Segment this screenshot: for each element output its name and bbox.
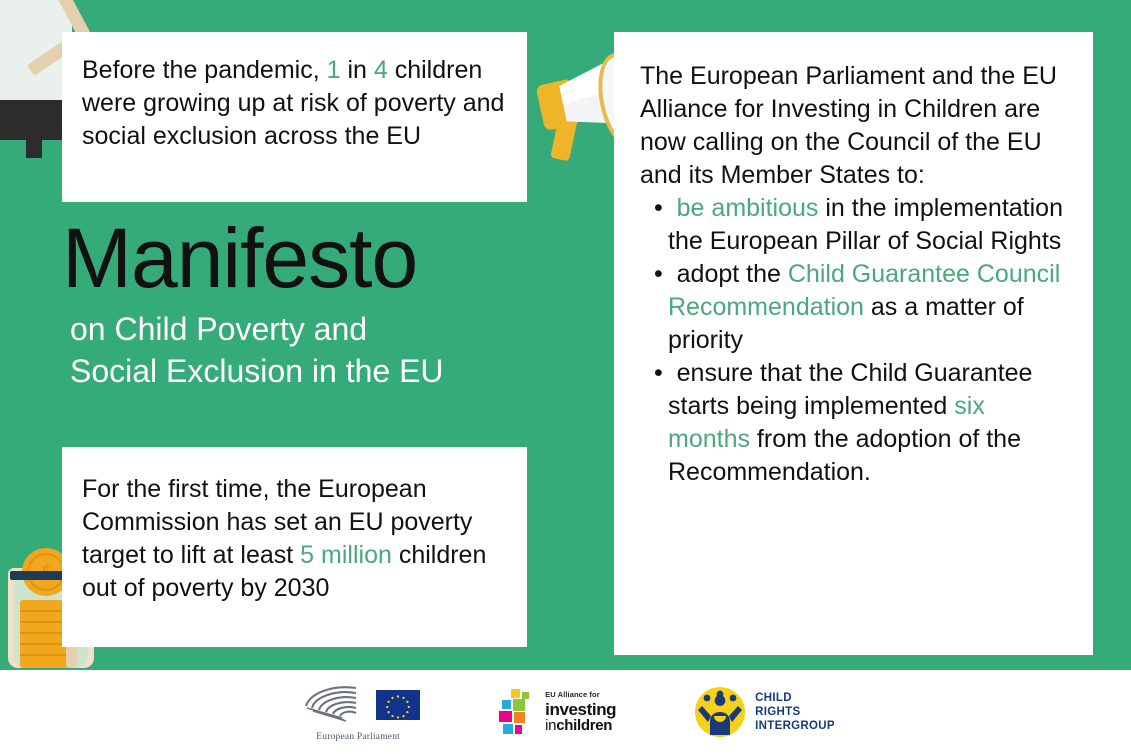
headline-block: Manifesto on Child Poverty and Social Ex… <box>62 212 582 392</box>
cri-line3: INTERGROUP <box>755 719 835 733</box>
statistic-text-part2: in <box>341 56 374 84</box>
statistic-number-1: 1 <box>327 56 341 84</box>
statistic-text: Before the pandemic, 1 in 4 children wer… <box>62 32 527 153</box>
alliance-line3: inchildren <box>545 718 616 733</box>
cri-child-figure-icon <box>694 686 746 738</box>
target-highlight: 5 million <box>300 541 392 569</box>
cri-wordmark: CHILD RIGHTS INTERGROUP <box>755 691 835 733</box>
ep-logo-caption: European Parliament <box>316 732 400 742</box>
call-intro-text: The European Parliament and the EU Allia… <box>640 60 1071 192</box>
european-parliament-logo: European Parliament <box>296 682 420 742</box>
call-to-action-card: The European Parliament and the EU Allia… <box>614 32 1093 655</box>
bullet-2-pre: adopt the <box>677 260 788 288</box>
call-bullet-item: adopt the Child Guarantee Council Recomm… <box>640 258 1071 357</box>
alliance-line1: EU Alliance for <box>545 691 616 699</box>
eu-alliance-logo: EU Alliance for investing inchildren <box>498 688 616 736</box>
target-text: For the first time, the European Commiss… <box>62 447 527 605</box>
page-subtitle-line2: Social Exclusion in the EU <box>70 350 582 392</box>
target-card: For the first time, the European Commiss… <box>62 447 527 647</box>
statistic-text-part1: Before the pandemic, <box>82 56 327 84</box>
call-to-action-body: The European Parliament and the EU Allia… <box>614 32 1093 489</box>
statistic-number-4: 4 <box>374 56 388 84</box>
eu-flag-icon <box>376 690 420 720</box>
child-rights-intergroup-logo: CHILD RIGHTS INTERGROUP <box>694 686 835 738</box>
alliance-wordmark: EU Alliance for investing inchildren <box>545 691 616 733</box>
call-bullet-list: be ambitious in the implementation the E… <box>640 192 1071 489</box>
call-bullet-item: be ambitious in the implementation the E… <box>640 192 1071 258</box>
page-title: Manifesto <box>62 212 582 304</box>
alliance-line2: investing <box>545 701 616 718</box>
statistic-card: Before the pandemic, 1 in 4 children wer… <box>62 32 527 202</box>
footer-logos: European Parliament EU Alliance for inve… <box>0 670 1131 754</box>
cri-line2: RIGHTS <box>755 705 835 719</box>
bullet-1-highlight: be ambitious <box>677 194 819 222</box>
page-subtitle-line1: on Child Poverty and <box>70 308 582 350</box>
call-bullet-item: ensure that the Child Guarantee starts b… <box>640 357 1071 489</box>
manifesto-poster: $ Before the pandemic, 1 in 4 children w… <box>0 0 1131 754</box>
alliance-line3-light: in <box>545 717 556 734</box>
cri-line1: CHILD <box>755 691 835 705</box>
alliance-blocks-icon <box>498 688 538 736</box>
page-subtitle: on Child Poverty and Social Exclusion in… <box>70 308 582 392</box>
alliance-line3-bold: children <box>556 717 612 734</box>
